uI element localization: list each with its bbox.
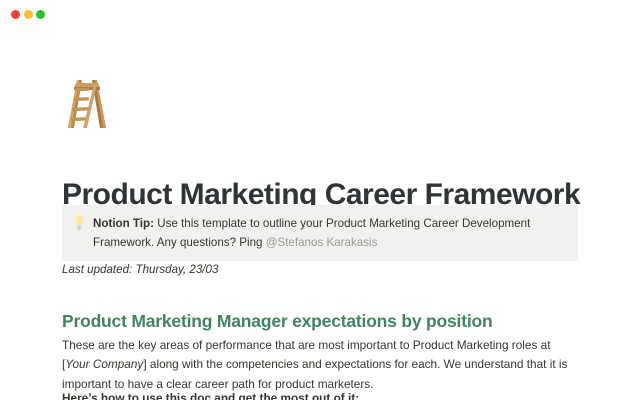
close-window-button[interactable] (11, 10, 20, 19)
section-heading[interactable]: Product Marketing Manager expectations b… (62, 309, 493, 333)
usage-lead-text[interactable]: Here’s how to use this doc and get the m… (62, 389, 574, 400)
last-updated-text[interactable]: Last updated: Thursday, 23/03 (62, 261, 218, 279)
callout-text: Notion Tip: Use this template to outline… (93, 214, 566, 252)
callout-bold-lead: Notion Tip: (93, 217, 154, 230)
document-canvas: Product Marketing Career Framework Notio… (0, 28, 640, 400)
user-mention[interactable]: @Stefanos Karakasis (266, 236, 378, 249)
app-window: Product Marketing Career Framework Notio… (0, 0, 640, 400)
zoom-window-button[interactable] (36, 10, 45, 19)
intro-paragraph[interactable]: These are the key areas of performance t… (62, 336, 574, 395)
light-bulb-icon[interactable] (73, 214, 93, 236)
ladder-icon[interactable] (63, 74, 111, 130)
callout-block[interactable]: Notion Tip: Use this template to outline… (62, 205, 578, 261)
window-titlebar (0, 0, 640, 28)
minimize-window-button[interactable] (24, 10, 33, 19)
intro-italic-placeholder: Your Company (65, 357, 143, 371)
